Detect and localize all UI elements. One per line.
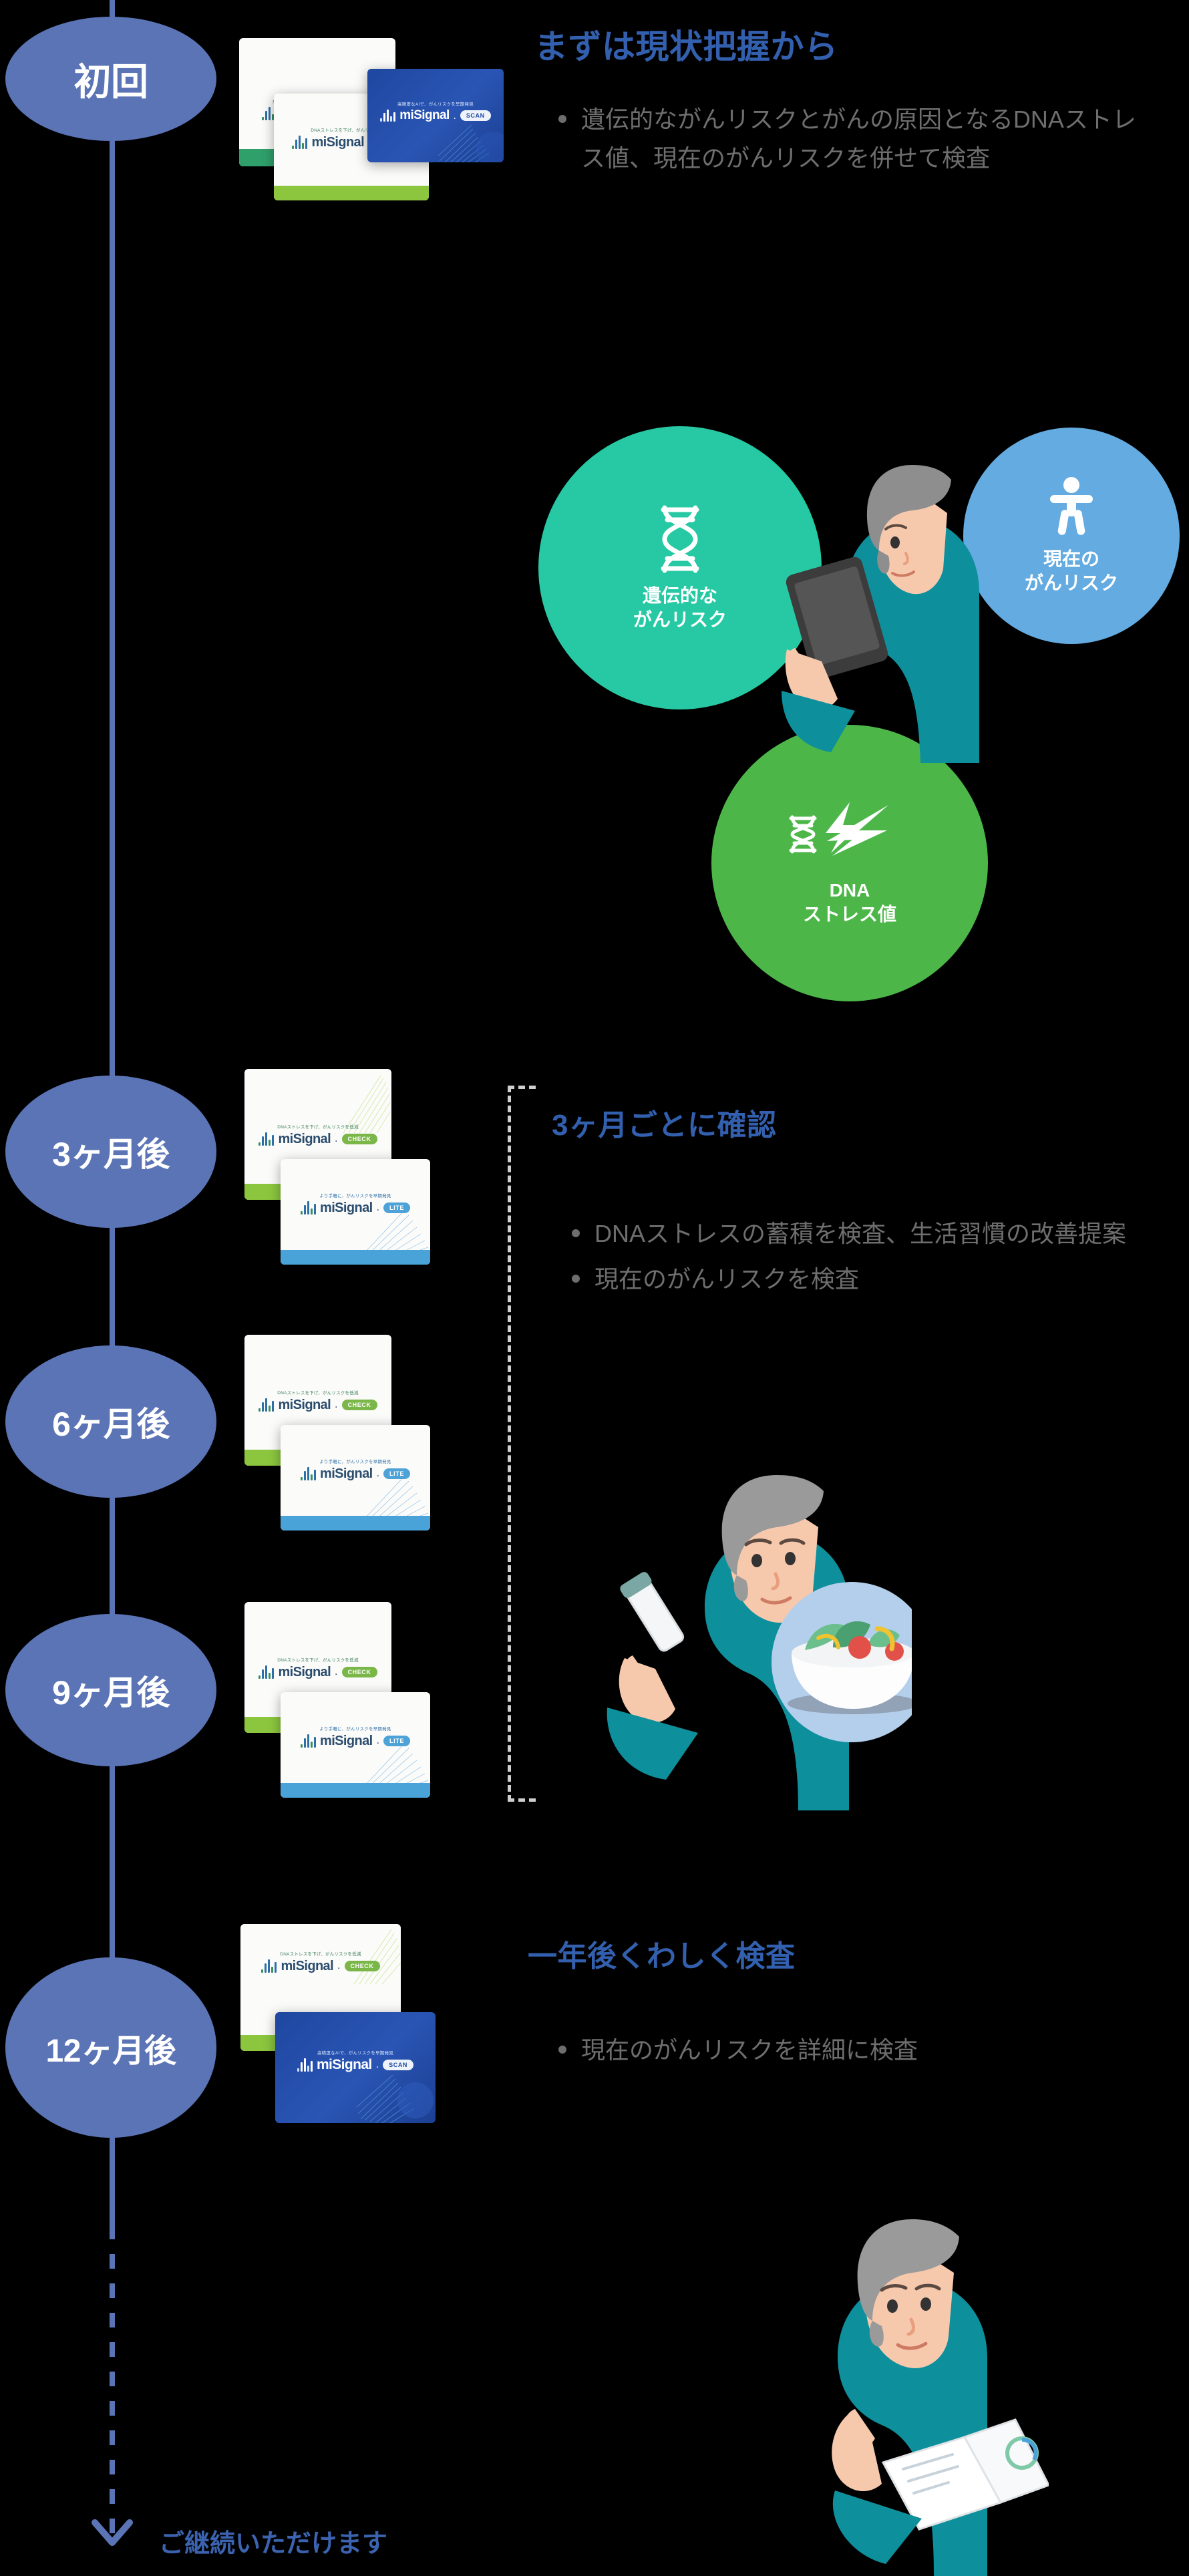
product-tagline: より手軽に、がんリスクを早期発見 [287,1726,424,1732]
milestone-circle-4[interactable]: 12ヶ月後 [5,1957,216,2138]
risk-label-line1: 遺伝的な [643,585,717,606]
brand-registered: . [335,1666,337,1678]
timeline-infographic: 初回 3ヶ月後 6ヶ月後 9ヶ月後 12ヶ月後 がんを未然に防ぐ。はじめの遺伝子… [0,0,1189,2576]
product-logo: miSignal . LITE [281,1199,430,1217]
brand-name: miSignal [399,108,449,123]
product-box-scan: 高精度なAIで、がんリスクを早期発見 miSignal . SCAN [367,69,504,162]
milestone-label: 3ヶ月後 [52,1128,170,1176]
section-2-bracket-top-cap [508,1086,536,1089]
section-bullets-0: 遺伝的ながんリスクとがんの原因となるDNAストレス値、現在のがんリスクを併せて検… [558,100,1146,184]
equalizer-icon [259,1132,274,1146]
illustration-person-reading-report [755,2205,1049,2576]
product-badge: LITE [383,1736,410,1746]
bullet-text: 遺伝的ながんリスクとがんの原因となるDNAストレス値、現在のがんリスクを併せて検… [581,100,1146,177]
bullet-dot-icon [572,1229,580,1237]
product-badge: SCAN [383,2060,413,2070]
product-tagline: 高精度なAIで、がんリスクを早期発見 [282,2050,430,2056]
bullet-text: DNAストレスの蓄積を検査、生活習慣の改善提案 [594,1215,1126,1253]
product-logo: miSignal . CHECK [244,1663,391,1681]
timeline-spine-dashed [110,2225,115,2536]
product-tagline: DNAストレスを下げ、がんリスクを低減 [250,1390,385,1396]
product-logo: miSignal . LITE [281,1732,430,1750]
brand-name: miSignal [278,1398,331,1413]
brand-registered: . [377,1202,379,1214]
product-footer-band [281,1516,430,1531]
brand-registered: . [335,1133,337,1145]
bullet-dot-icon [572,1275,580,1283]
person-body-icon [1047,476,1095,538]
equalizer-icon [261,1959,277,1973]
continuation-note: ご継続いただけます [159,2523,387,2559]
brand-name: miSignal [317,2057,372,2073]
equalizer-icon [301,1467,316,1480]
brand-name: miSignal [311,135,364,150]
risk-label-line2: ストレス値 [803,904,896,925]
risk-label: 遺伝的な がんリスク [633,584,727,632]
product-badge: CHECK [345,1961,380,1971]
section-bullets-2: 現在のがんリスクを詳細に検査 [558,2031,1146,2076]
timeline-arrow-down-icon [91,2519,134,2548]
bullet-item: DNAストレスの蓄積を検査、生活習慣の改善提案 [572,1215,1160,1253]
product-badge: CHECK [342,1400,377,1410]
product-logo: miSignal . SCAN [367,108,504,124]
risk-circle-dna-stress[interactable]: DNA ストレス値 [711,725,988,1001]
milestone-circle-3[interactable]: 9ヶ月後 [5,1614,216,1766]
bullet-text: 現在のがんリスクを検査 [594,1260,859,1299]
section-bullets-1: DNAストレスの蓄積を検査、生活習慣の改善提案 現在のがんリスクを検査 [572,1215,1160,1305]
risk-label-line1: DNA [830,880,870,901]
brand-registered: . [335,1399,337,1411]
product-box-lite-6m: より手軽に、がんリスクを早期発見 miSignal . LITE [281,1425,430,1531]
product-tagline: より手軽に、がんリスクを早期発見 [287,1458,424,1464]
section-title-1: 3ヶ月ごとに確認 [552,1101,776,1144]
product-tagline: より手軽に、がんリスクを早期発見 [287,1192,424,1198]
product-badge: SCAN [460,110,491,121]
product-footer-band [274,186,429,200]
brand-name: miSignal [320,1734,373,1749]
bullet-item: 現在のがんリスクを詳細に検査 [558,2031,1146,2070]
milestone-label: 12ヶ月後 [46,2024,176,2071]
equalizer-icon [259,1398,274,1412]
brand-registered: . [377,1735,379,1747]
equalizer-icon [292,136,307,149]
brand-name: miSignal [320,1466,373,1482]
product-footer-band [281,1783,430,1798]
product-tagline: DNAストレスを下げ、がんリスクを低減 [250,1657,385,1663]
brand-name: miSignal [278,1132,331,1147]
brand-registered: . [376,2059,379,2071]
dna-stress-icon [778,800,922,869]
product-tagline: DNAストレスを下げ、がんリスクを低減 [247,1951,395,1957]
equalizer-icon [297,2058,313,2072]
equalizer-icon [301,1201,316,1215]
bullet-dot-icon [558,2046,566,2054]
brand-name: miSignal [278,1665,331,1680]
risk-label: DNA ストレス値 [803,878,896,927]
product-box-lite-3m: より手軽に、がんリスクを早期発見 miSignal . LITE [281,1159,430,1265]
risk-label-line2: がんリスク [1025,573,1118,593]
product-logo: miSignal . CHECK [244,1130,391,1148]
milestone-label: 初回 [74,52,148,106]
brand-name: miSignal [281,1959,333,1974]
product-box-lite-9m: より手軽に、がんリスクを早期発見 miSignal . LITE [281,1692,430,1798]
milestone-label: 6ヶ月後 [52,1398,170,1446]
equalizer-icon [259,1665,274,1679]
risk-label-line1: 現在の [1043,548,1099,569]
product-tagline: DNAストレスを下げ、がんリスクを低減 [250,1124,385,1130]
product-logo: miSignal . SCAN [275,2056,436,2074]
product-badge: LITE [383,1202,410,1213]
product-logo: miSignal . CHECK [244,1396,391,1414]
risk-label-line2: がんリスク [633,609,727,630]
product-badge: CHECK [342,1134,377,1144]
section-title-0: まずは現状把握から [534,20,838,68]
product-badge: LITE [383,1468,410,1479]
dna-helix-icon [654,504,706,575]
product-footer-band [281,1250,430,1265]
milestone-circle-2[interactable]: 6ヶ月後 [5,1345,216,1498]
risk-label: 現在の がんリスク [1025,547,1118,595]
milestone-circle-1[interactable]: 3ヶ月後 [5,1076,216,1228]
bullet-item: 現在のがんリスクを検査 [572,1260,1160,1299]
equalizer-icon [301,1734,316,1748]
brand-registered: . [377,1468,379,1480]
risk-circle-genetic[interactable]: 遺伝的な がんリスク [538,426,822,709]
equalizer-icon [380,110,395,122]
product-tagline: 高精度なAIで、がんリスクを早期発見 [373,101,498,107]
bullet-dot-icon [558,115,566,123]
section-2-bracket [508,1086,511,1802]
product-badge: CHECK [342,1667,377,1677]
section-title-2: 一年後くわしく検査 [528,1932,796,1975]
brand-registered: . [337,1960,340,1972]
illustration-person-with-testtube [598,1463,912,1810]
illustration-person-with-phone [782,449,1002,763]
bullet-text: 現在のがんリスクを詳細に検査 [581,2031,918,2070]
product-logo: miSignal . CHECK [240,1957,401,1975]
product-box-scan-12m: 高精度なAIで、がんリスクを早期発見 miSignal . SCAN [275,2012,436,2123]
section-2-bracket-bottom-cap [508,1798,536,1802]
product-logo: miSignal . LITE [281,1465,430,1482]
brand-name: miSignal [320,1200,373,1216]
milestone-label: 9ヶ月後 [52,1666,170,1714]
bullet-item: 遺伝的ながんリスクとがんの原因となるDNAストレス値、現在のがんリスクを併せて検… [558,100,1146,177]
milestone-circle-0[interactable]: 初回 [5,17,216,141]
brand-registered: . [454,110,456,122]
